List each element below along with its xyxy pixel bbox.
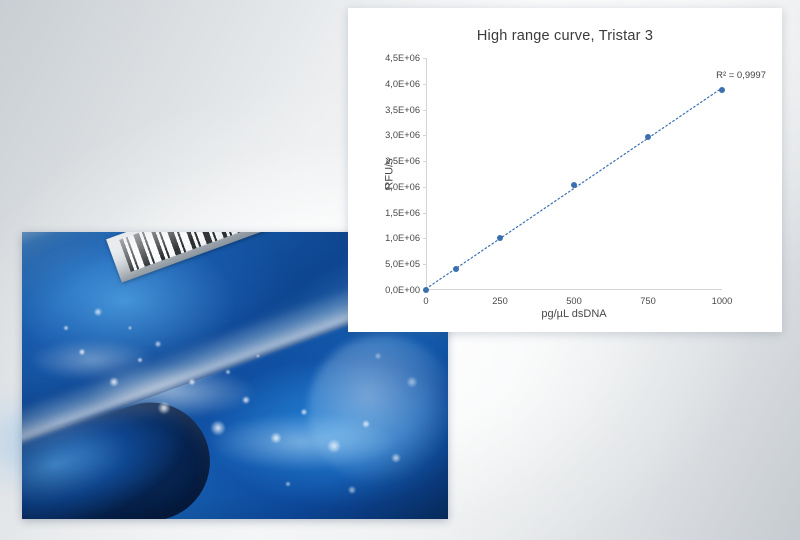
x-axis-tick-label: 0 [423,296,428,306]
data-point-marker[interactable] [453,266,459,272]
data-point-marker[interactable] [645,134,651,140]
y-axis-tick-label: 4,0E+06 [385,79,420,89]
data-point-marker[interactable] [423,287,429,293]
chart-card: High range curve, Tristar 3 RFU/s 0,0E+0… [348,8,782,332]
plot-area: 0,0E+005,0E+051,0E+061,5E+062,0E+062,5E+… [426,58,722,290]
y-axis-tick-label: 0,0E+00 [385,285,420,295]
y-axis-tick-label: 5,0E+05 [385,259,420,269]
x-axis-tick-label: 250 [492,296,508,306]
x-axis-tick-label: 1000 [712,296,733,306]
data-point-marker[interactable] [719,87,725,93]
r-squared-text: R² = 0,9997 [716,70,766,81]
slide-canvas: High range curve, Tristar 3 RFU/s 0,0E+0… [0,0,800,540]
x-axis-title: pg/µL dsDNA [426,308,722,320]
y-axis-tick-label: 1,0E+06 [385,233,420,243]
y-axis-tick-label: 3,0E+06 [385,130,420,140]
data-point-marker[interactable] [497,235,503,241]
y-axis-tick-label: 3,5E+06 [385,105,420,115]
y-axis-tick-label: 1,5E+06 [385,208,420,218]
data-point-marker[interactable] [571,182,577,188]
x-axis-tick-label: 750 [640,296,656,306]
y-axis-title: RFU/s [374,58,405,290]
trendline [426,58,722,290]
y-axis-tick-label: 2,5E+06 [385,156,420,166]
chart-title: High range curve, Tristar 3 [348,28,782,44]
x-axis-tick-label: 500 [566,296,582,306]
r-squared-annotation: R² = 0,9997 [716,70,766,81]
y-axis-tick-label: 4,5E+06 [385,53,420,63]
y-axis-tick-label: 2,0E+06 [385,182,420,192]
